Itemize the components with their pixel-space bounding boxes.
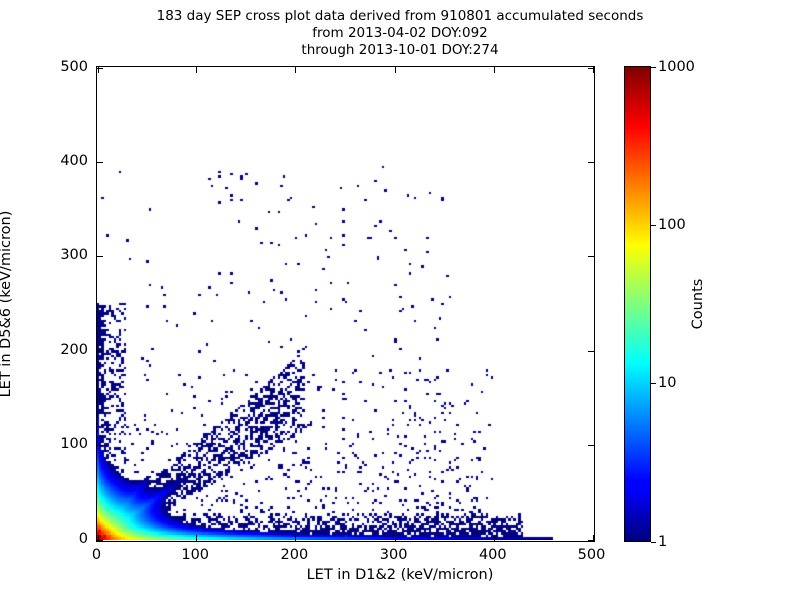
x-tick-400 (494, 67, 495, 73)
colorbar-label: Counts (690, 154, 706, 454)
y-tick-label-500: 500 (0, 59, 88, 75)
y-tick-100 (588, 445, 594, 446)
y-tick-400 (588, 162, 594, 163)
title-line-3: through 2013-10-01 DOY:274 (0, 42, 800, 59)
x-tick-label-300: 300 (380, 547, 408, 563)
y-axis-label: LET in D5&6 (keV/micron) (0, 154, 14, 454)
x-tick-label-100: 100 (181, 547, 209, 563)
y-tick-0 (588, 540, 594, 541)
plot-area (96, 66, 595, 542)
y-tick-label-0: 0 (0, 531, 88, 547)
x-tick-100 (196, 67, 197, 73)
colorbar-tick-10 (651, 383, 656, 384)
x-tick-200 (295, 535, 296, 541)
x-tick-label-0: 0 (92, 547, 101, 563)
y-tick-500 (97, 68, 103, 69)
colorbar-tick-1000 (651, 67, 656, 68)
colorbar-tick-100 (651, 225, 656, 226)
y-tick-300 (97, 256, 103, 257)
colorbar-tick-label-1: 1 (658, 534, 667, 550)
title-line-1: 183 day SEP cross plot data derived from… (0, 8, 800, 25)
y-tick-0 (97, 540, 103, 541)
colorbar-tick-1 (651, 542, 656, 543)
x-tick-400 (494, 535, 495, 541)
scatter-density-canvas (97, 67, 593, 540)
x-tick-300 (395, 535, 396, 541)
x-tick-100 (196, 535, 197, 541)
colorbar-tick-label-1000: 1000 (658, 59, 695, 75)
x-tick-300 (395, 67, 396, 73)
y-tick-500 (588, 68, 594, 69)
y-tick-300 (588, 256, 594, 257)
colorbar-tick-label-10: 10 (658, 375, 676, 391)
colorbar-gradient (624, 66, 651, 542)
x-axis-label: LET in D1&2 (keV/micron) (0, 567, 800, 583)
colorbar-tick-label-100: 100 (658, 217, 686, 233)
x-tick-200 (295, 67, 296, 73)
x-tick-label-200: 200 (281, 547, 309, 563)
y-tick-100 (97, 445, 103, 446)
x-tick-label-500: 500 (578, 547, 606, 563)
y-tick-400 (97, 162, 103, 163)
title-line-2: from 2013-04-02 DOY:092 (0, 25, 800, 42)
chart-title: 183 day SEP cross plot data derived from… (0, 8, 800, 59)
x-tick-label-400: 400 (479, 547, 507, 563)
y-tick-200 (588, 351, 594, 352)
figure-canvas: 183 day SEP cross plot data derived from… (0, 0, 800, 600)
colorbar: 1101001000 (624, 66, 651, 542)
y-tick-200 (97, 351, 103, 352)
